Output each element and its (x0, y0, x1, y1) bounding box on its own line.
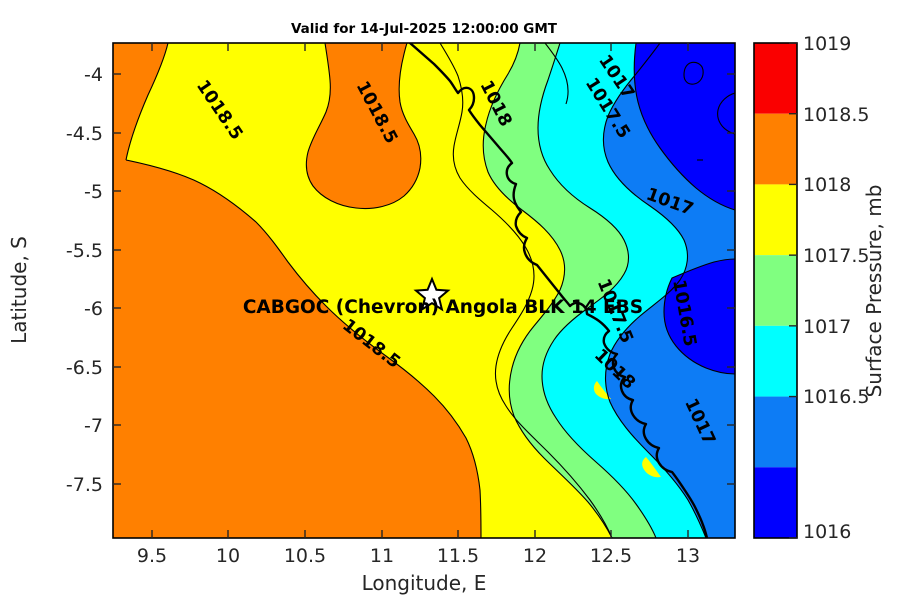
colorbar-label: Surface Pressure, mb (862, 185, 886, 398)
x-tick-label: 12.5 (590, 545, 632, 567)
x-tick-label: 9.5 (137, 545, 167, 567)
y-tick-label: -6.5 (66, 357, 103, 379)
colorbar-tick-label: 1019 (803, 33, 851, 55)
colorbar-band-1017p5-1018 (754, 184, 797, 255)
colorbar-band-below-1016 (754, 467, 797, 538)
colorbar-tick-label: 1017 (803, 316, 851, 338)
x-tick-label: 11.5 (437, 545, 479, 567)
y-tick-label: -4 (84, 64, 103, 86)
colorbar-tick-label: 1018 (803, 174, 851, 196)
y-tick-label: -6 (84, 298, 103, 320)
pressure-contour-figure: Valid for 14-Jul-2025 12:00:00 GMT (0, 0, 900, 600)
colorbar-band-1016-1016p5 (754, 397, 797, 468)
colorbar-tick-label: 1016.5 (803, 386, 869, 408)
x-tick-label: 10 (216, 545, 240, 567)
colorbar-tick-label: 1017.5 (803, 245, 869, 267)
colorbar-band-1018-1018p5 (754, 114, 797, 185)
y-tick-label: -5.5 (66, 240, 103, 262)
y-tick-label: -5 (84, 181, 103, 203)
colorbar-band-1017-1017p5 (754, 255, 797, 326)
x-axis-label: Longitude, E (362, 571, 487, 595)
colorbar-tick-label: 1016 (803, 521, 851, 543)
contour-plot-area: CABGOC (Chevron) Angola BLK 14 EBS 1018.… (113, 43, 735, 538)
site-label: CABGOC (Chevron) Angola BLK 14 EBS (243, 297, 643, 318)
y-axis-label: Latitude, S (7, 236, 31, 344)
page-title: Valid for 14-Jul-2025 12:00:00 GMT (291, 21, 558, 37)
colorbar-tick-label: 1018.5 (803, 104, 869, 126)
y-tick-label: -7 (84, 415, 103, 437)
x-tick-label: 13 (676, 545, 700, 567)
x-tick-label: 12 (523, 545, 547, 567)
x-tick-label: 10.5 (284, 545, 326, 567)
y-tick-label: -7.5 (66, 474, 103, 496)
colorbar-bands (754, 43, 797, 538)
colorbar-band-1018p5-1019 (754, 43, 797, 114)
x-tick-label: 11 (370, 545, 394, 567)
colorbar-band-1016p5-1017 (754, 326, 797, 397)
y-tick-label: -4.5 (66, 123, 103, 145)
figure-canvas: Valid for 14-Jul-2025 12:00:00 GMT (0, 0, 900, 600)
